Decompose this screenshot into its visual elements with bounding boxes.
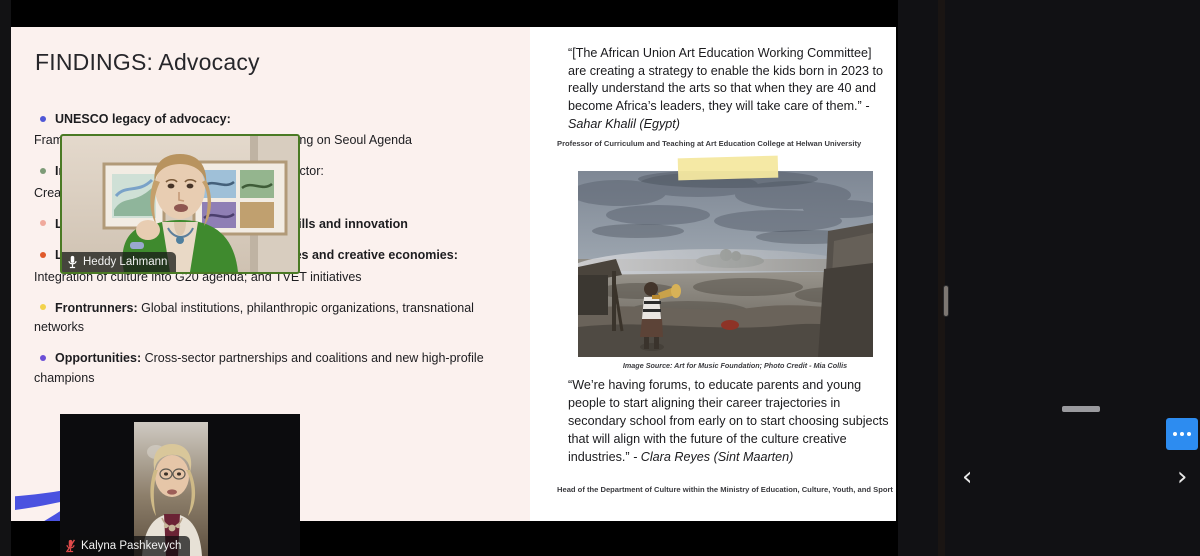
bullet-dot-icon (40, 252, 46, 258)
microphone-icon (67, 255, 78, 269)
quote-bottom-attribution: - Clara Reyes (Sint Maarten) (630, 450, 794, 464)
bullet-dot-icon (40, 220, 46, 226)
photo-caption: Image Source: Art for Music Foundation; … (585, 361, 885, 370)
stage-left-gutter (0, 0, 11, 556)
quote-bottom-credit: Head of the Department of Culture within… (557, 485, 896, 494)
tile-drag-handle[interactable] (1062, 406, 1100, 412)
rail-resize-handle[interactable] (943, 285, 949, 317)
more-dot (1173, 432, 1177, 436)
microphone-muted-icon (65, 539, 76, 553)
participant-rail (898, 0, 1200, 556)
bullet-item: Frontrunners: Global institutions, phila… (34, 299, 524, 338)
participant-name: Kalyna Pashkevych (81, 540, 181, 552)
bullet-head: Opportunities: (55, 351, 141, 365)
prev-page-button[interactable]: ‹ (962, 464, 972, 490)
slide-title: FINDINGS: Advocacy (35, 49, 260, 76)
tape-strip-decoration (678, 156, 779, 181)
bullet-head: Frontrunners: (55, 301, 138, 315)
quote-top-credit: Professor of Curriculum and Teaching at … (557, 139, 896, 149)
participant-tile-speaker[interactable]: Heddy Lahmann (60, 134, 300, 274)
bullet-head: UNESCO legacy of advocacy: (55, 112, 231, 126)
secondary-video-feed (60, 414, 300, 556)
slide-right-column: “[The African Union Art Education Workin… (530, 27, 896, 521)
screen-root: FINDINGS: Advocacy UNESCO legacy of advo… (0, 0, 1200, 556)
more-dot (1180, 432, 1184, 436)
bullet-dot-icon (40, 304, 46, 310)
bullet-dot-icon (40, 355, 46, 361)
more-dot (1187, 432, 1191, 436)
participant-tile-secondary[interactable]: Kalyna Pashkevych (60, 414, 300, 556)
participant-name-badge: Heddy Lahmann (62, 252, 176, 272)
slide-photo-container (578, 164, 873, 357)
quote-top: “[The African Union Art Education Workin… (568, 45, 886, 133)
slide-photo (578, 171, 873, 357)
next-page-button[interactable]: › (1177, 464, 1187, 490)
bullet-dot-icon (40, 116, 46, 122)
bullet-dot-icon (40, 168, 46, 174)
participant-name: Heddy Lahmann (83, 256, 167, 268)
rail-divider (938, 0, 945, 556)
bullet-item: Opportunities: Cross-sector partnerships… (34, 349, 524, 388)
quote-bottom: “We’re having forums, to educate parents… (568, 377, 890, 466)
more-options-button[interactable] (1166, 418, 1198, 450)
participant-name-badge: Kalyna Pashkevych (60, 536, 190, 556)
quote-top-text: “[The African Union Art Education Workin… (568, 46, 883, 113)
